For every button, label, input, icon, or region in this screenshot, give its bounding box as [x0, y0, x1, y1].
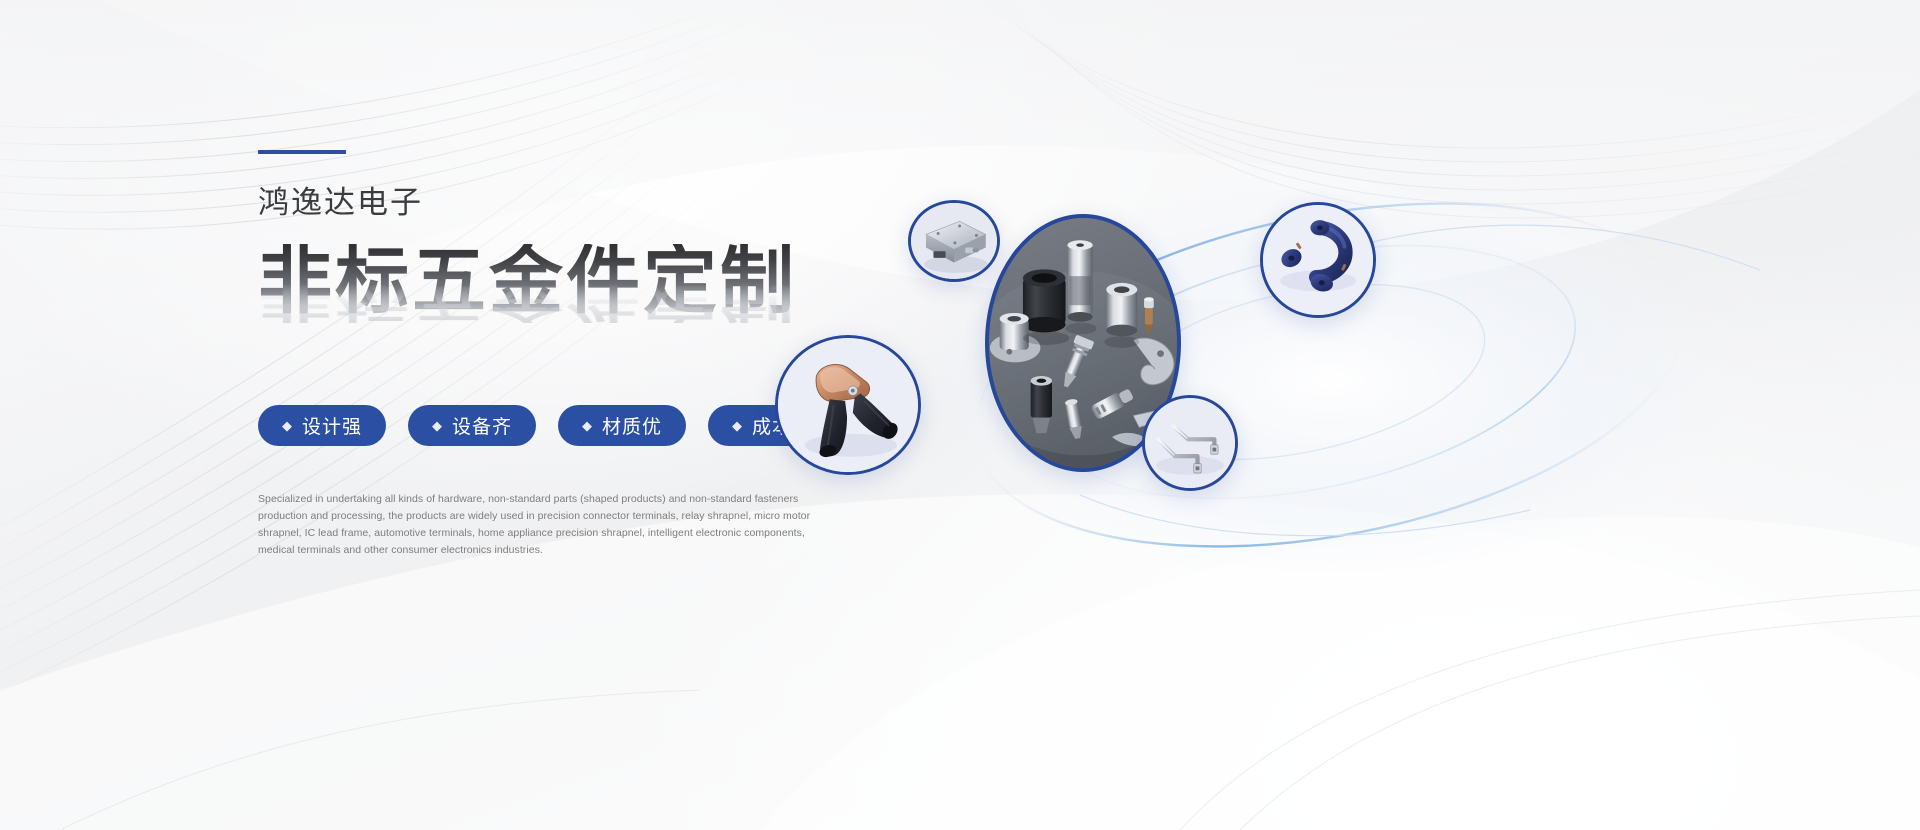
headline-reflection: 非标五金件定制 [258, 282, 797, 323]
feature-pill-label: 设备齐 [452, 412, 512, 439]
diamond-icon: ◆ [432, 419, 443, 432]
diamond-icon: ◆ [282, 419, 293, 432]
diamond-icon: ◆ [582, 419, 593, 432]
feature-pill-label: 设计强 [302, 412, 362, 439]
product-node-battery-clamp[interactable] [775, 335, 921, 475]
feature-pill-material[interactable]: ◆ 材质优 [558, 405, 686, 446]
product-node-bent-terminal-pins[interactable] [1142, 395, 1238, 491]
diamond-icon: ◆ [732, 419, 743, 432]
product-showcase [930, 150, 1770, 590]
company-description: Specialized in undertaking all kinds of … [258, 491, 823, 559]
brand-name: 鸿逸达电子 [258, 187, 898, 218]
feature-pill-label: 材质优 [602, 412, 662, 439]
feature-pill-design[interactable]: ◆ 设计强 [258, 405, 386, 446]
hero-banner: 鸿逸达电子 非标五金件定制 非标五金件定制 ◆ 设计强 ◆ 设备齐 ◆ 材质优 … [0, 0, 1920, 830]
product-node-metal-stamped-enclosure[interactable] [908, 200, 1000, 282]
feature-pill-equipment[interactable]: ◆ 设备齐 [408, 405, 536, 446]
product-node-retaining-ring[interactable] [1260, 202, 1376, 318]
accent-bar [258, 150, 346, 154]
